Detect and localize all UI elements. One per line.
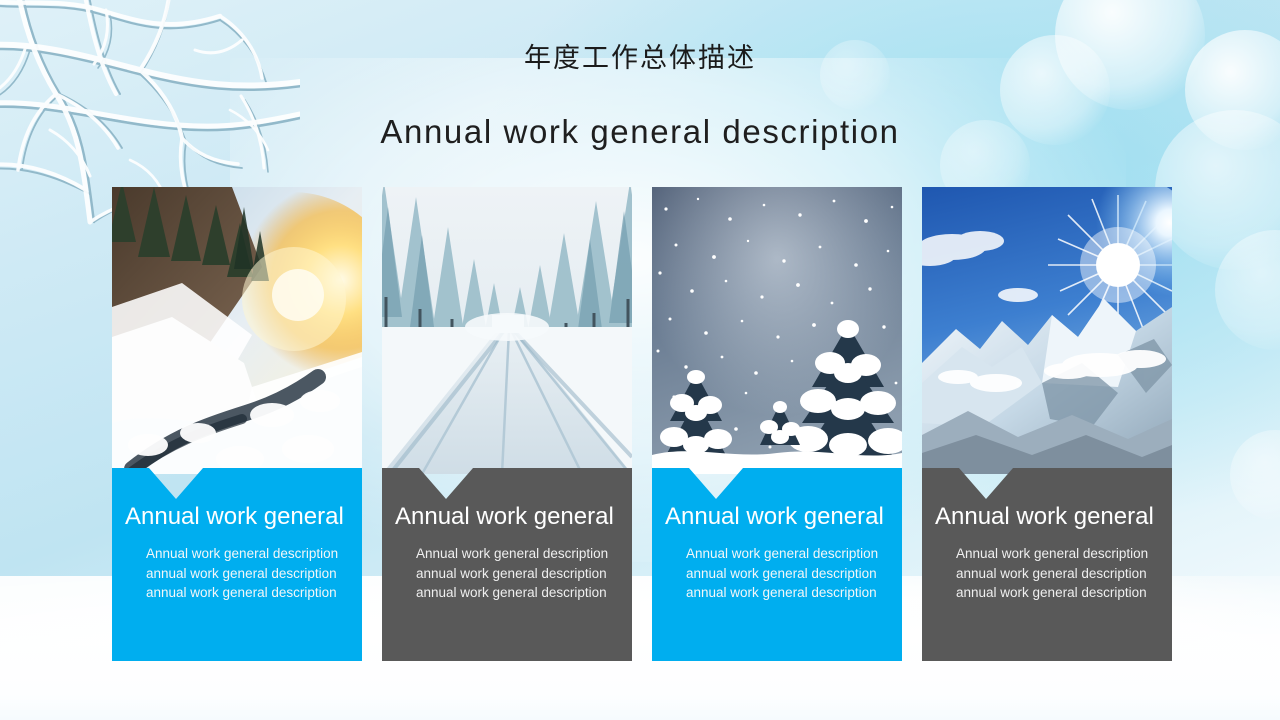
card-image-snowfall-over-pine-trees: [652, 187, 902, 474]
card-list: Annual work general Annual work general …: [112, 187, 1172, 661]
card-heading: Annual work general: [125, 504, 356, 530]
card-heading: Annual work general: [665, 504, 896, 530]
card-description: Annual work general description annual w…: [956, 544, 1162, 603]
slide-canvas: 年度工作总体描述 Annual work general description: [0, 0, 1280, 720]
card-description: Annual work general description annual w…: [416, 544, 622, 603]
card-panel: Annual work general Annual work general …: [652, 468, 902, 661]
card-panel: Annual work general Annual work general …: [112, 468, 362, 661]
card-heading: Annual work general: [395, 504, 626, 530]
card-item[interactable]: Annual work general Annual work general …: [922, 187, 1172, 661]
card-item[interactable]: Annual work general Annual work general …: [112, 187, 362, 661]
card-image-snowy-mountain-stream-at-sunset: [112, 187, 362, 474]
card-item[interactable]: Annual work general Annual work general …: [652, 187, 902, 661]
card-item[interactable]: Annual work general Annual work general …: [382, 187, 632, 661]
card-panel: Annual work general Annual work general …: [922, 468, 1172, 661]
card-panel: Annual work general Annual work general …: [382, 468, 632, 661]
card-description: Annual work general description annual w…: [146, 544, 352, 603]
card-description: Annual work general description annual w…: [686, 544, 892, 603]
page-title-english: Annual work general description: [0, 113, 1280, 151]
page-title-chinese: 年度工作总体描述: [0, 36, 1280, 75]
card-image-sunlit-snowy-mountain-peaks: [922, 187, 1172, 474]
card-heading: Annual work general: [935, 504, 1166, 530]
card-image-snow-covered-forest-road: [382, 187, 632, 474]
